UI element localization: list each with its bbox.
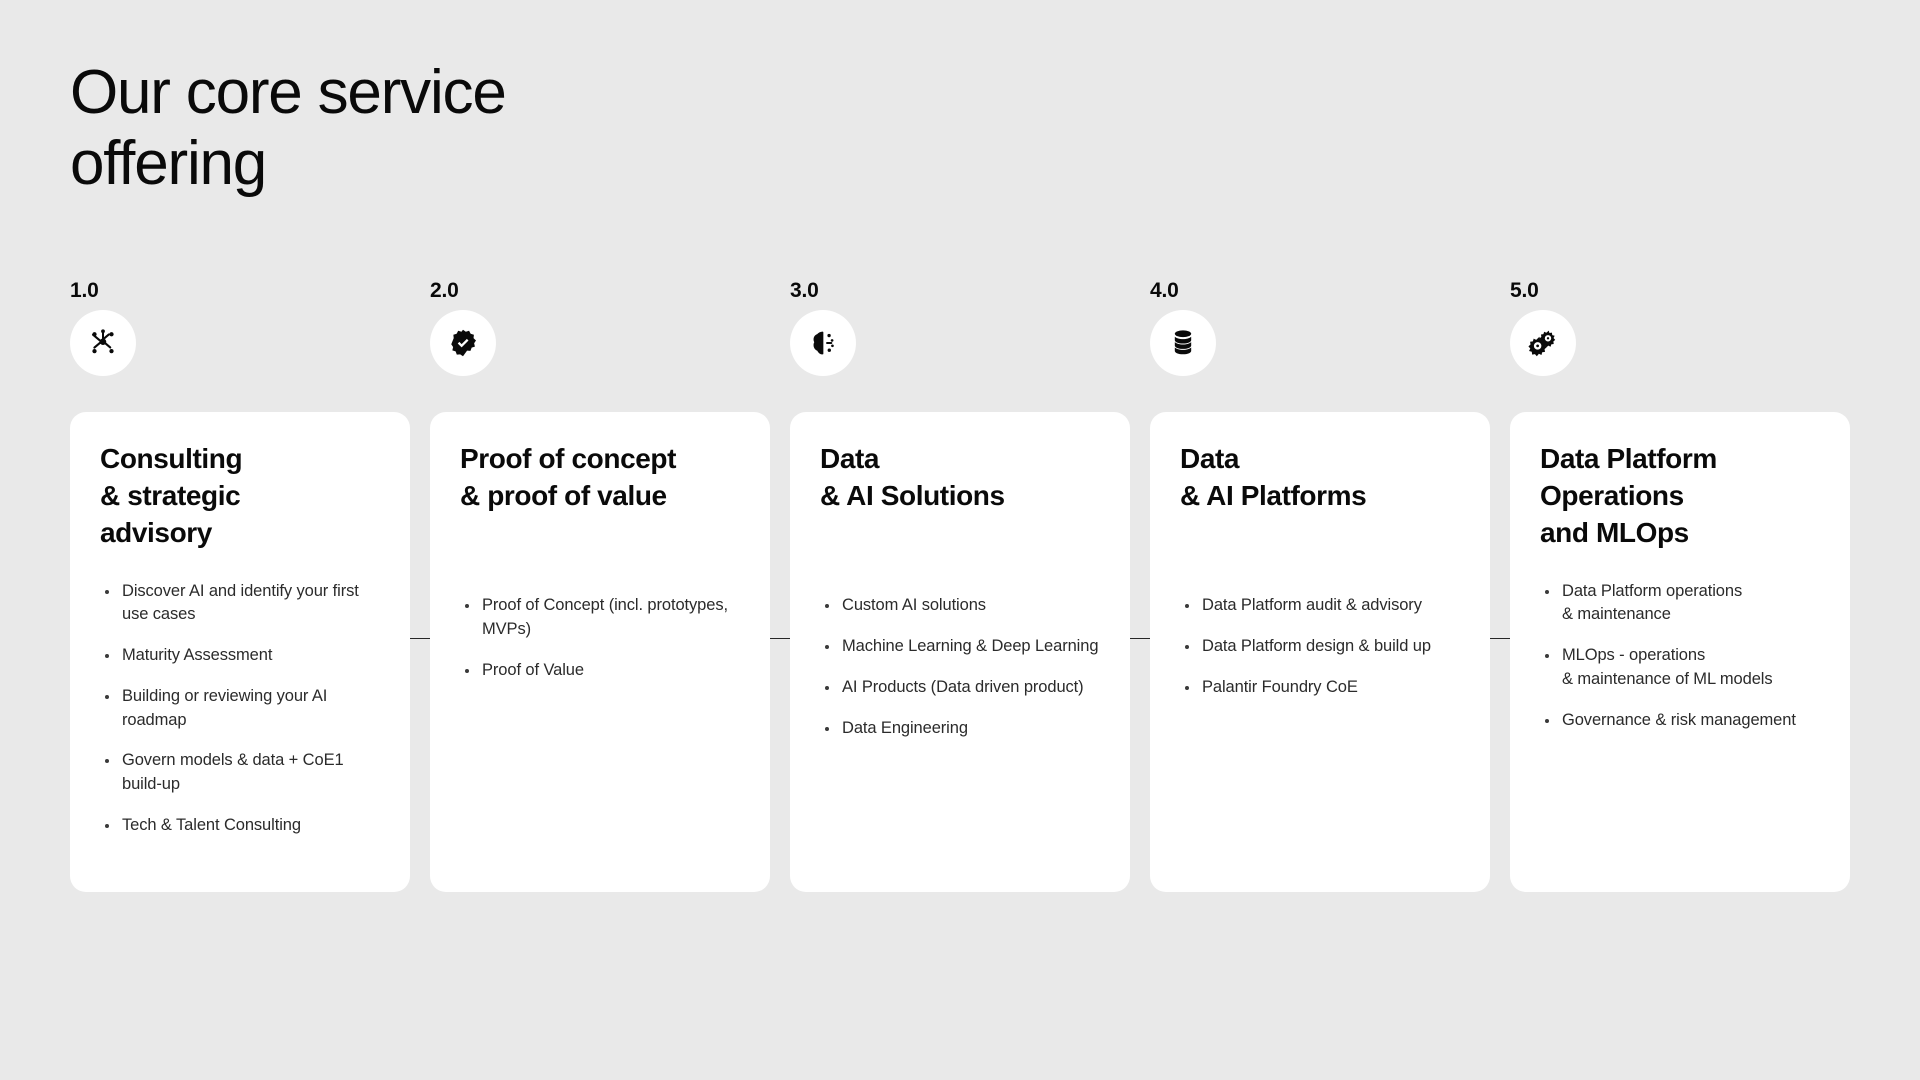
list-item: MLOps - operations & maintenance of ML m… (1540, 644, 1820, 692)
list-item: AI Products (Data driven product) (820, 676, 1100, 700)
timeline-step-2[interactable]: 2.0 (430, 280, 459, 301)
list-item: Tech & Talent Consulting (100, 814, 380, 838)
card-bullet-list: Proof of Concept (incl. prototypes, MVPs… (460, 594, 740, 699)
list-item: Proof of Concept (incl. prototypes, MVPs… (460, 594, 740, 642)
gears-cog-icon[interactable] (1510, 310, 1576, 376)
service-card-3[interactable]: Data & AI Solutions Custom AI solutions … (790, 412, 1130, 892)
card-bullet-list: Custom AI solutions Machine Learning & D… (820, 594, 1100, 757)
service-card-1[interactable]: Consulting & strategic advisory Discover… (70, 412, 410, 892)
database-stack-icon[interactable] (1150, 310, 1216, 376)
card-title: Proof of concept & proof of value (460, 440, 740, 514)
service-cards-row: Consulting & strategic advisory Discover… (70, 412, 1850, 892)
step-number-1: 1.0 (70, 280, 99, 301)
timeline-step-4[interactable]: 4.0 (1150, 280, 1179, 301)
list-item: Palantir Foundry CoE (1180, 676, 1460, 700)
step-number-5: 5.0 (1510, 280, 1539, 301)
network-hub-icon[interactable] (70, 310, 136, 376)
step-number-4: 4.0 (1150, 280, 1179, 301)
verified-badge-check-icon[interactable] (430, 310, 496, 376)
service-card-4[interactable]: Data & AI Platforms Data Platform audit … (1150, 412, 1490, 892)
service-card-2[interactable]: Proof of concept & proof of value Proof … (430, 412, 770, 892)
list-item: Governance & risk management (1540, 709, 1820, 733)
timeline-step-5[interactable]: 5.0 (1510, 280, 1539, 301)
list-item: Data Platform design & build up (1180, 635, 1460, 659)
list-item: Building or reviewing your AI roadmap (100, 685, 380, 733)
list-item: Proof of Value (460, 659, 740, 683)
list-item: Govern models & data + CoE1 build-up (100, 749, 380, 797)
card-title: Data & AI Platforms (1180, 440, 1460, 514)
step-number-3: 3.0 (790, 280, 819, 301)
list-item: Discover AI and identify your first use … (100, 580, 380, 628)
card-bullet-list: Discover AI and identify your first use … (100, 580, 380, 855)
step-number-2: 2.0 (430, 280, 459, 301)
service-card-5[interactable]: Data Platform Operations and MLOps Data … (1510, 412, 1850, 892)
timeline: 1.0 2.0 (70, 280, 1860, 360)
timeline-step-3[interactable]: 3.0 (790, 280, 819, 301)
footer: ™ unit8.com digital natives (0, 940, 1920, 1080)
card-title: Data Platform Operations and MLOps (1540, 440, 1820, 552)
card-bullet-list: Data Platform operations & maintenance M… (1540, 580, 1820, 750)
card-title: Data & AI Solutions (820, 440, 1100, 514)
list-item: Data Engineering (820, 717, 1100, 741)
card-bullet-list: Data Platform audit & advisory Data Plat… (1180, 594, 1460, 716)
list-item: Maturity Assessment (100, 644, 380, 668)
timeline-step-1[interactable]: 1.0 (70, 280, 99, 301)
page-title: Our core service offering (70, 58, 506, 199)
brain-ai-icon[interactable] (790, 310, 856, 376)
list-item: Data Platform operations & maintenance (1540, 580, 1820, 628)
card-title: Consulting & strategic advisory (100, 440, 380, 552)
list-item: Machine Learning & Deep Learning (820, 635, 1100, 659)
list-item: Custom AI solutions (820, 594, 1100, 618)
list-item: Data Platform audit & advisory (1180, 594, 1460, 618)
slide-root: Our core service offering 1.0 (0, 0, 1920, 1080)
